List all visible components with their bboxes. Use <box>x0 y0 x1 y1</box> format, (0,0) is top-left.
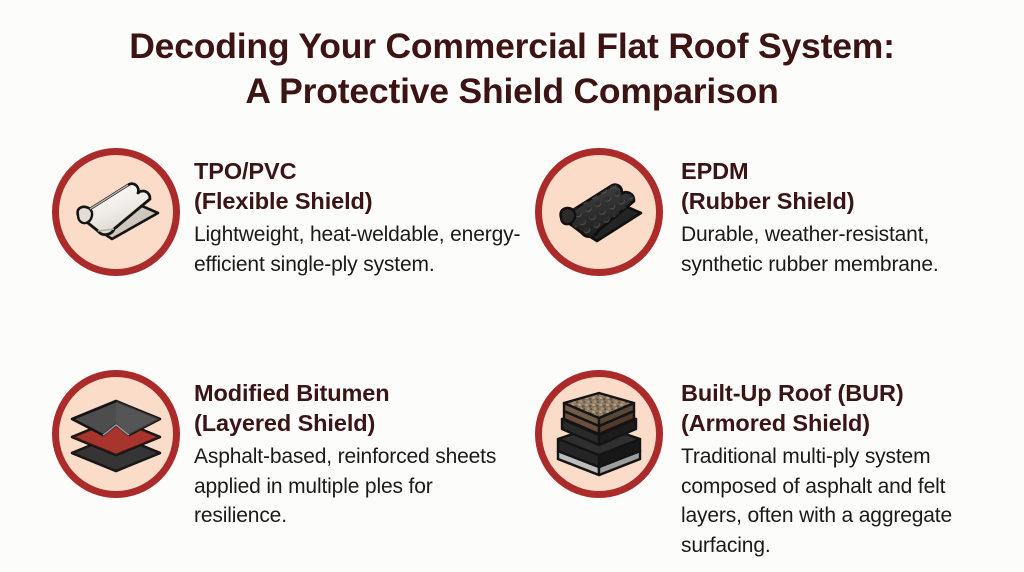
heading-line-1: EPDM <box>681 158 749 184</box>
rubber-mat-icon <box>535 148 663 276</box>
heading-line-1: Modified Bitumen <box>194 380 390 406</box>
title-line-2: A Protective Shield Comparison <box>0 69 1024 114</box>
card-body-modified-bitumen: Asphalt-based, reinforced sheets applied… <box>194 442 522 531</box>
heading-line-2: (Flexible Shield) <box>194 188 373 214</box>
card-body-epdm: Durable, weather-resistant, synthetic ru… <box>681 220 1005 279</box>
layered-sheets-icon <box>52 370 180 498</box>
card-tpo-pvc: TPO/PVC (Flexible Shield) Lightweight, h… <box>52 148 522 279</box>
gravel-slab-icon <box>535 370 663 498</box>
page-title: Decoding Your Commercial Flat Roof Syste… <box>0 24 1024 114</box>
card-heading-modified-bitumen: Modified Bitumen (Layered Shield) <box>194 378 522 438</box>
infographic-canvas: Decoding Your Commercial Flat Roof Syste… <box>0 0 1024 572</box>
card-modified-bitumen: Modified Bitumen (Layered Shield) Asphal… <box>52 370 522 531</box>
heading-line-2: (Layered Shield) <box>194 410 375 436</box>
membrane-sheet-icon <box>52 148 180 276</box>
card-epdm: EPDM (Rubber Shield) Durable, weather-re… <box>535 148 1005 279</box>
card-heading-tpo-pvc: TPO/PVC (Flexible Shield) <box>194 156 522 216</box>
card-built-up-roof: Built-Up Roof (BUR) (Armored Shield) Tra… <box>535 370 1005 560</box>
card-heading-built-up-roof: Built-Up Roof (BUR) (Armored Shield) <box>681 378 1005 438</box>
title-line-1: Decoding Your Commercial Flat Roof Syste… <box>0 24 1024 69</box>
heading-line-1: Built-Up Roof (BUR) <box>681 380 904 406</box>
card-grid: TPO/PVC (Flexible Shield) Lightweight, h… <box>0 148 1024 568</box>
card-body-built-up-roof: Traditional multi-ply system composed of… <box>681 442 1005 560</box>
card-heading-epdm: EPDM (Rubber Shield) <box>681 156 1005 216</box>
card-text-epdm: EPDM (Rubber Shield) Durable, weather-re… <box>677 148 1005 279</box>
card-text-tpo-pvc: TPO/PVC (Flexible Shield) Lightweight, h… <box>194 148 522 279</box>
heading-line-2: (Armored Shield) <box>681 410 870 436</box>
card-text-modified-bitumen: Modified Bitumen (Layered Shield) Asphal… <box>194 370 522 531</box>
card-body-tpo-pvc: Lightweight, heat-weldable, energy-effic… <box>194 220 522 279</box>
card-text-built-up-roof: Built-Up Roof (BUR) (Armored Shield) Tra… <box>677 370 1005 560</box>
heading-line-1: TPO/PVC <box>194 158 296 184</box>
heading-line-2: (Rubber Shield) <box>681 188 854 214</box>
